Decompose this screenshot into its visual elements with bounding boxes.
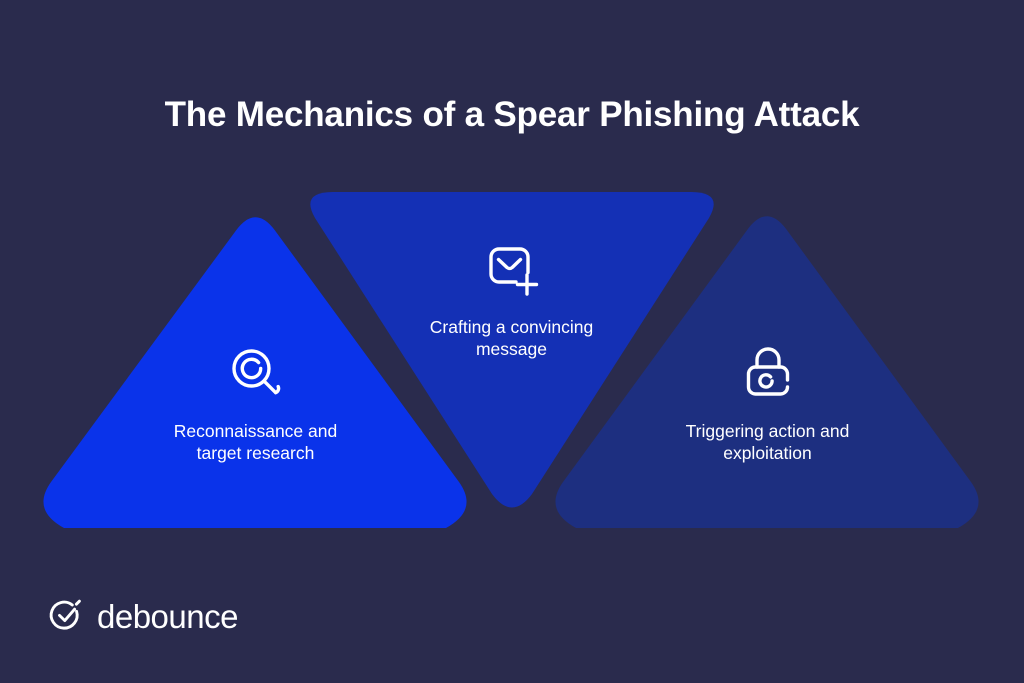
brand-logo-text: debounce	[97, 600, 238, 633]
mail-plus-icon	[389, 242, 634, 298]
check-circle-icon	[48, 598, 84, 634]
brand-logo[interactable]: debounce	[48, 598, 238, 634]
process-step-1[interactable]: Reconnaissance and target research	[133, 344, 378, 464]
infographic-canvas: The Mechanics of a Spear Phishing Attack…	[0, 0, 1024, 683]
magnifier-icon	[133, 344, 378, 402]
process-step-2-label: Crafting a convincing message	[389, 316, 634, 360]
process-step-3-label: Triggering action and exploitation	[645, 420, 890, 464]
process-step-1-label: Reconnaissance and target research	[133, 420, 378, 464]
padlock-icon	[645, 344, 890, 402]
process-step-3[interactable]: Triggering action and exploitation	[645, 344, 890, 464]
process-diagram: Reconnaissance and target research Craft…	[0, 0, 1024, 683]
process-step-2[interactable]: Crafting a convincing message	[389, 242, 634, 360]
